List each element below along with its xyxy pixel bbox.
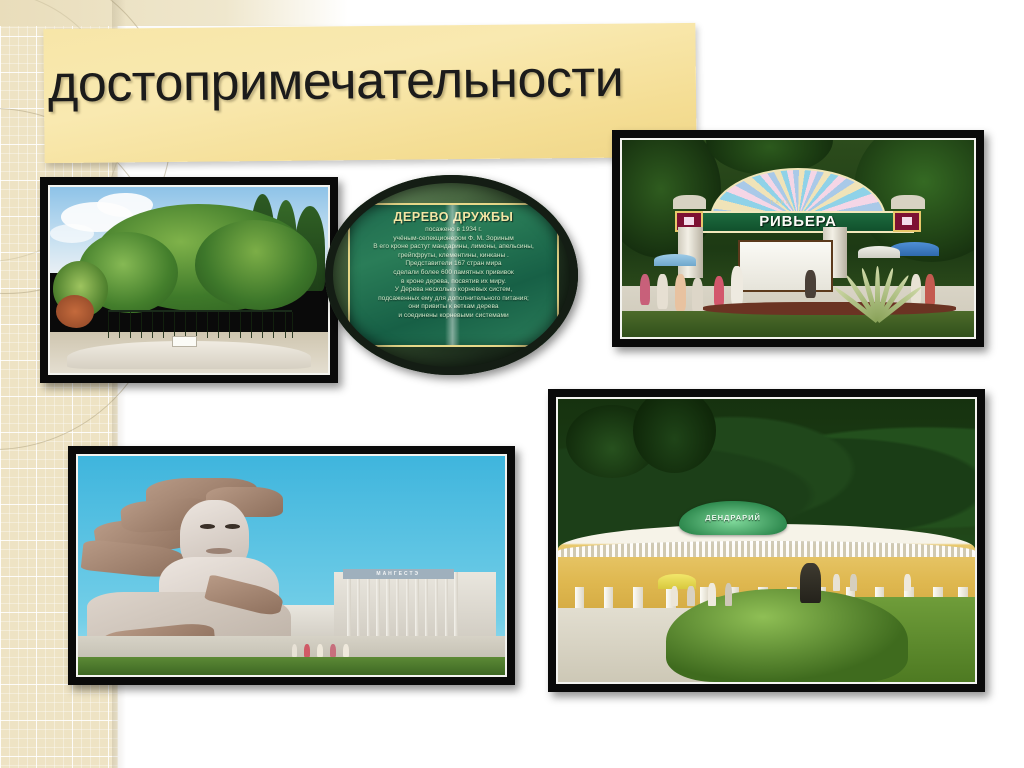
photo-inner-border: ДЕНДРАРИЙ	[556, 397, 977, 684]
flower-bed-soil	[703, 302, 956, 316]
tree-canopy	[195, 220, 317, 309]
lawn	[622, 311, 974, 337]
gate-ornament-square	[893, 211, 921, 232]
oval-frame-rim	[325, 175, 578, 375]
visitor	[657, 274, 668, 309]
photo-tree-of-friendship-garden	[50, 187, 328, 373]
gate-sign-banner: РИВЬЕРА	[682, 211, 914, 233]
visitor	[833, 574, 840, 591]
visitor	[850, 574, 857, 591]
cloud	[50, 224, 94, 243]
visitor	[725, 583, 733, 606]
visitor	[925, 274, 936, 307]
building-sign-text: МАНГЕСТЭ	[376, 571, 420, 577]
gate-pillar	[678, 227, 703, 278]
flower-bed	[666, 589, 908, 682]
visitor	[687, 586, 695, 606]
photo-frame-dendrarium[interactable]: ДЕНДРАРИЙ	[548, 389, 985, 692]
photo-frame-riviera-park[interactable]: ПАРК РИВЬЕРА	[612, 130, 984, 347]
gate-ornament-cap	[673, 195, 706, 209]
visitor	[675, 274, 686, 311]
agave-plant	[833, 266, 917, 321]
presentation-slide: достопримечательности	[0, 0, 1024, 768]
visitor	[292, 644, 298, 657]
umbrella	[654, 254, 696, 266]
dendrarium-sign-text: ДЕНДРАРИЙ	[705, 513, 761, 522]
visitor	[317, 644, 323, 657]
photo-inner-border: ПАРК РИВЬЕРА	[620, 138, 976, 339]
visitor	[304, 644, 310, 657]
sculpture-eye	[200, 524, 215, 529]
visitor	[692, 278, 703, 313]
urn-planter	[800, 563, 821, 603]
photo-dendrarium-colonnade: ДЕНДРАРИЙ	[558, 399, 975, 682]
gate-ornament-cap	[891, 195, 924, 209]
iron-fence	[108, 310, 291, 338]
flower-bed	[56, 295, 95, 328]
visitor	[708, 583, 716, 606]
photo-frame-monument[interactable]: МАНГЕСТЭ	[68, 446, 515, 685]
visitor	[330, 644, 336, 657]
visitor	[343, 644, 349, 657]
visitor	[731, 266, 743, 305]
gate-sign-park-word: ПАРК	[770, 200, 791, 206]
photo-inner-border	[48, 185, 330, 375]
photo-inner-border: МАНГЕСТЭ	[76, 454, 507, 677]
oval-photo-plaque-dereva-druzhby[interactable]: ДЕРЕВО ДРУЖБЫ посажено в 1934 г. учёным-…	[325, 175, 578, 375]
info-plate	[172, 336, 196, 347]
visitor	[904, 574, 911, 591]
photo-frame-tree-of-friendship-garden[interactable]	[40, 177, 338, 383]
sculpture-eye	[225, 524, 240, 529]
visitor	[671, 586, 679, 606]
visitor	[714, 276, 725, 308]
visitor	[805, 270, 816, 298]
sculpture-mouth	[206, 548, 232, 554]
lawn	[78, 657, 505, 675]
umbrella	[858, 246, 900, 258]
visitor	[640, 274, 651, 306]
building-sign: МАНГЕСТЭ	[343, 569, 454, 579]
photo-monument-and-building: МАНГЕСТЭ	[78, 456, 505, 675]
page-title: достопримечательности	[48, 49, 749, 114]
background-top-band	[0, 0, 1024, 26]
information-board	[738, 240, 833, 291]
photo-riviera-park-gate: ПАРК РИВЬЕРА	[622, 140, 974, 337]
